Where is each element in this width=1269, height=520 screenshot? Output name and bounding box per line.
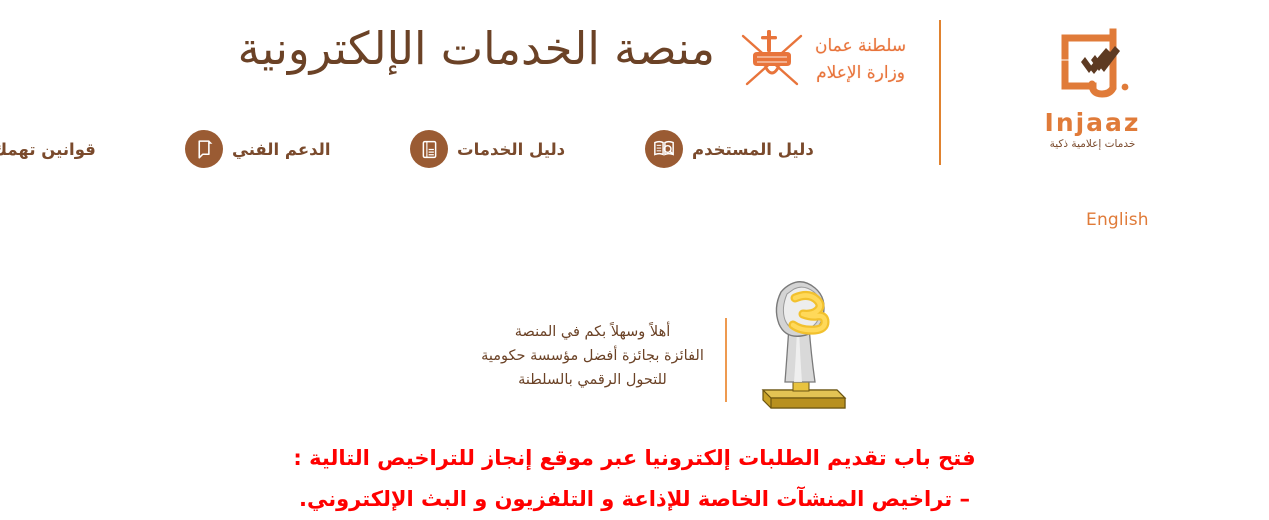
injaaz-mark-icon xyxy=(1045,18,1141,106)
trophy-award-icon xyxy=(745,272,855,410)
book-search-icon xyxy=(645,130,683,168)
nav-item-user-guide-label: دليل المستخدم xyxy=(692,140,814,159)
award-line-2: الفائزة بجائزة أفضل مؤسسة حكومية xyxy=(455,344,730,368)
announcement-line-1: فتح باب تقديم الطلبات إلكترونيا عبر موقع… xyxy=(0,438,1269,479)
ministry-line-1: سلطنة عمان xyxy=(815,33,906,60)
primary-navigation: دليل المستخدم دليل الخدمات xyxy=(85,126,915,176)
header-vertical-divider xyxy=(939,20,941,165)
award-line-1: أهلاً وسهلاً بكم في المنصة xyxy=(455,320,730,344)
ministry-name: سلطنة عمان وزارة الإعلام xyxy=(815,33,906,87)
award-vertical-divider xyxy=(725,318,727,402)
nav-item-user-guide[interactable]: دليل المستخدم xyxy=(645,130,814,168)
page-title: منصة الخدمات الإلكترونية xyxy=(70,18,715,80)
language-toggle-english[interactable]: English xyxy=(1086,210,1149,230)
chat-device-icon xyxy=(185,130,223,168)
document-lines-icon xyxy=(410,130,448,168)
announcement-block: فتح باب تقديم الطلبات إلكترونيا عبر موقع… xyxy=(0,438,1269,520)
award-banner: أهلاً وسهلاً بكم في المنصة الفائزة بجائز… xyxy=(430,272,850,412)
nav-item-services-guide[interactable]: دليل الخدمات xyxy=(410,130,565,168)
ministry-logo: سلطنة عمان وزارة الإعلام xyxy=(735,20,930,100)
injaaz-logo[interactable]: Injaaz خدمات إعلامية ذكية xyxy=(1030,18,1155,150)
announcement-line-2: – تراخيص المنشآت الخاصة للإذاعة و التلفز… xyxy=(0,479,1269,520)
nav-item-services-guide-label: دليل الخدمات xyxy=(457,140,565,159)
oman-national-emblem-icon xyxy=(735,24,809,96)
nav-item-technical-support-label: الدعم الفني xyxy=(232,140,331,159)
injaaz-wordmark: Injaaz xyxy=(1030,108,1155,137)
injaaz-tagline: خدمات إعلامية ذكية xyxy=(1030,138,1155,150)
nav-item-laws-label: قوانين تهمك xyxy=(0,140,96,159)
ministry-line-2: وزارة الإعلام xyxy=(816,60,905,87)
award-welcome-text: أهلاً وسهلاً بكم في المنصة الفائزة بجائز… xyxy=(455,320,730,392)
nav-item-technical-support[interactable]: الدعم الفني xyxy=(185,130,331,168)
nav-item-laws[interactable]: قوانين تهمك xyxy=(0,130,96,168)
award-line-3: للتحول الرقمي بالسلطنة xyxy=(455,368,730,392)
